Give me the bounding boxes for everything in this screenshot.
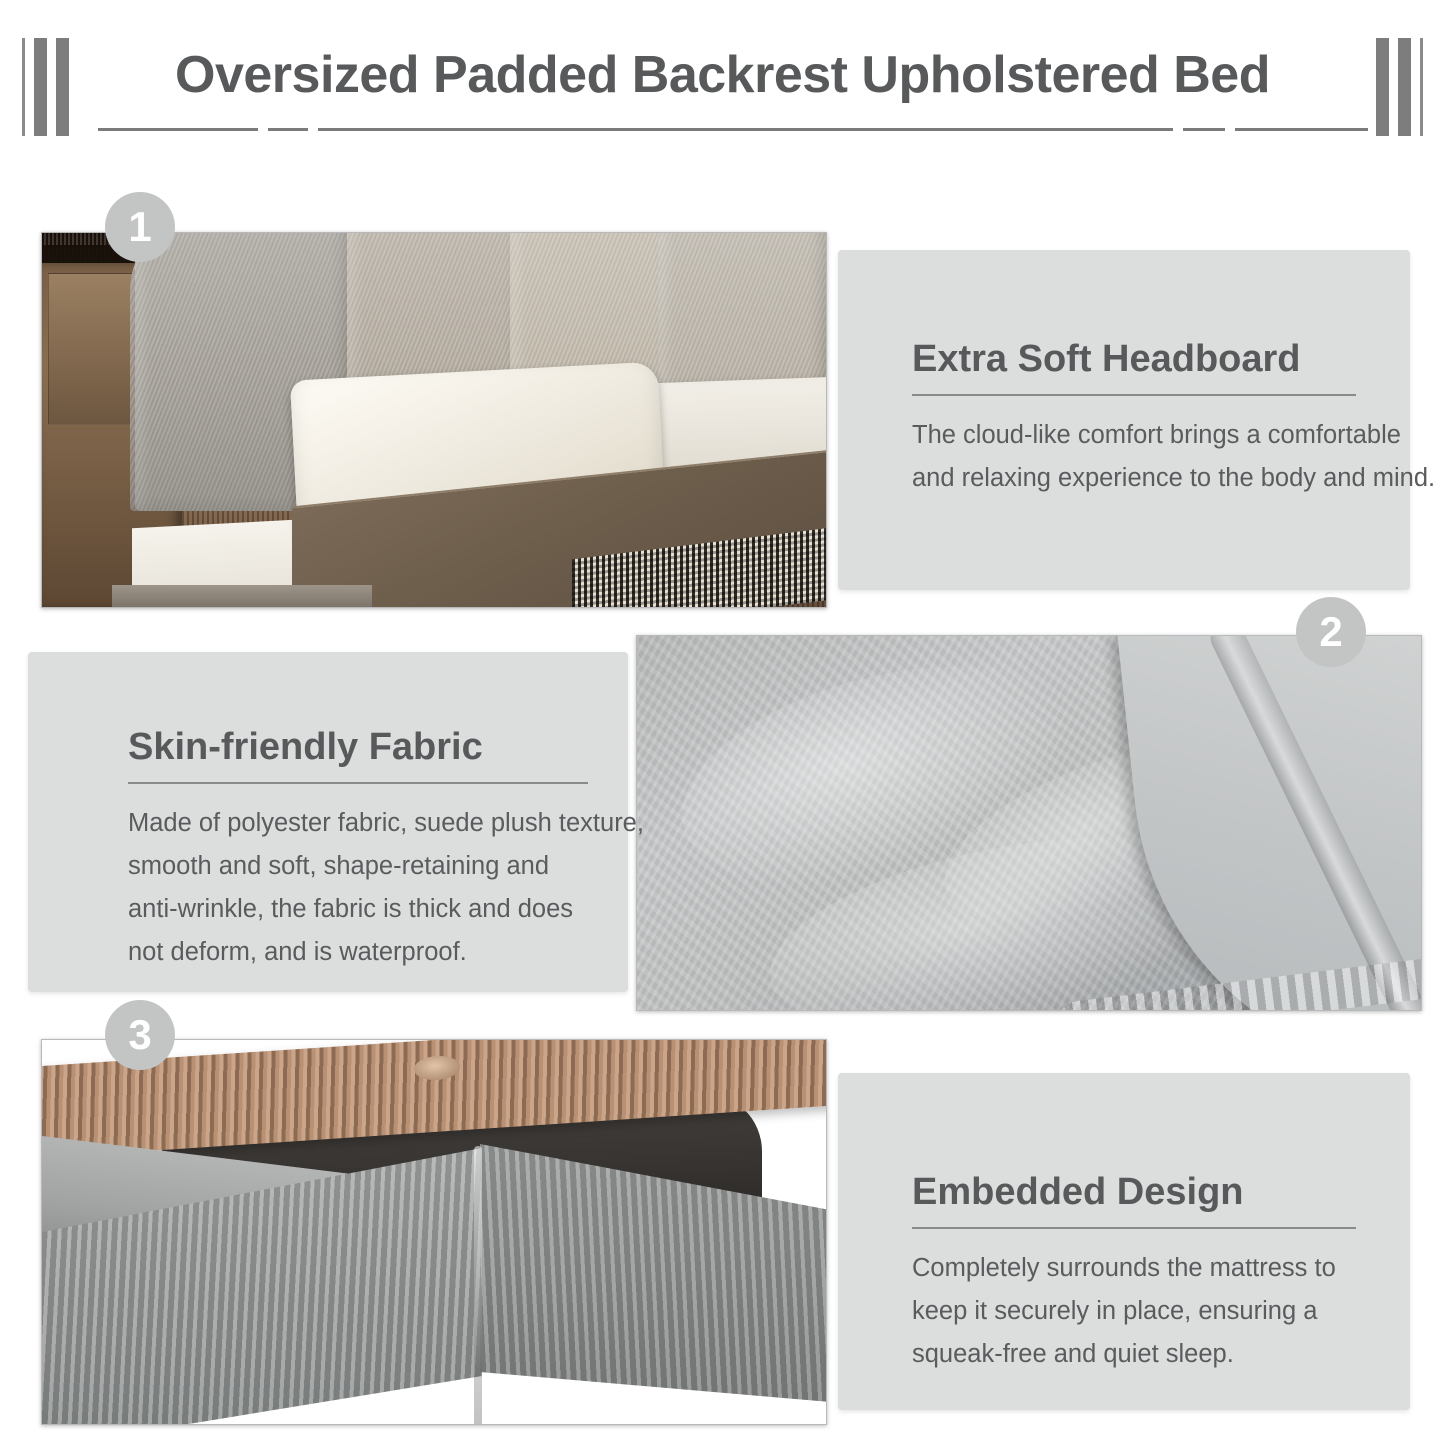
feature-body-line: Made of polyester fabric, suede plush te…	[128, 802, 588, 845]
feature-image-fabric	[636, 635, 1422, 1011]
feature-image-bed-corner	[41, 1039, 827, 1425]
feature-panel-embedded-design: Embedded Design Completely surrounds the…	[838, 1073, 1410, 1410]
feature-title-underline-1	[912, 394, 1356, 396]
page-header: Oversized Padded Backrest Upholstered Be…	[0, 0, 1445, 150]
feature-body-line: anti-wrinkle, the fabric is thick and do…	[128, 888, 588, 931]
header-divider-segment	[268, 128, 308, 131]
page-title: Oversized Padded Backrest Upholstered Be…	[110, 44, 1335, 106]
feature-body-line: squeak-free and quiet sleep.	[912, 1333, 1356, 1376]
feature-panel-extra-soft-headboard: Extra Soft Headboard The cloud-like comf…	[838, 250, 1410, 590]
feature-body-2: Made of polyester fabric, suede plush te…	[128, 802, 588, 974]
decoration-bar-thin	[1420, 38, 1423, 136]
step-badge-1: 1	[105, 192, 175, 262]
decoration-bar-thick	[56, 38, 69, 136]
feature-body-line: not deform, and is waterproof.	[128, 931, 588, 974]
feature-panel-skin-friendly-fabric: Skin-friendly Fabric Made of polyester f…	[28, 652, 628, 992]
feature-body-line: smooth and soft, shape-retaining and	[128, 845, 588, 888]
feature-title-1: Extra Soft Headboard	[912, 336, 1356, 382]
feature-title-3: Embedded Design	[912, 1169, 1356, 1215]
decoration-gap	[25, 38, 34, 136]
feature-title-underline-3	[912, 1227, 1356, 1229]
corner-seam	[474, 1146, 482, 1425]
decoration-bar-thick	[1398, 38, 1411, 136]
header-decoration-right	[1376, 38, 1423, 136]
step-badge-3: 3	[105, 1000, 175, 1070]
feature-image-headboard	[41, 232, 827, 608]
header-divider-segment	[1183, 128, 1225, 131]
infographic-page: Oversized Padded Backrest Upholstered Be…	[0, 0, 1445, 1445]
decoration-bar-thick	[1376, 38, 1389, 136]
decoration-gap	[47, 38, 56, 136]
feature-body-3: Completely surrounds the mattress to kee…	[912, 1247, 1356, 1376]
feature-body-line: Completely surrounds the mattress to	[912, 1247, 1356, 1290]
feature-title-underline-2	[128, 782, 588, 784]
feature-body-1: The cloud-like comfort brings a comforta…	[912, 414, 1356, 500]
feature-body-line: keep it securely in place, ensuring a	[912, 1290, 1356, 1333]
header-divider-segment	[318, 128, 1173, 131]
decoration-gap	[1411, 38, 1420, 136]
header-decoration-left	[22, 38, 69, 136]
feature-body-line: and relaxing experience to the body and …	[912, 457, 1356, 500]
header-divider-segment	[98, 128, 258, 131]
feature-title-2: Skin-friendly Fabric	[128, 724, 588, 770]
step-badge-2: 2	[1296, 597, 1366, 667]
decoration-bar-thick	[34, 38, 47, 136]
header-divider-segment	[1235, 128, 1368, 131]
feature-body-line: The cloud-like comfort brings a comforta…	[912, 414, 1356, 457]
bed-frame-base	[112, 585, 372, 607]
decoration-gap	[1389, 38, 1398, 136]
